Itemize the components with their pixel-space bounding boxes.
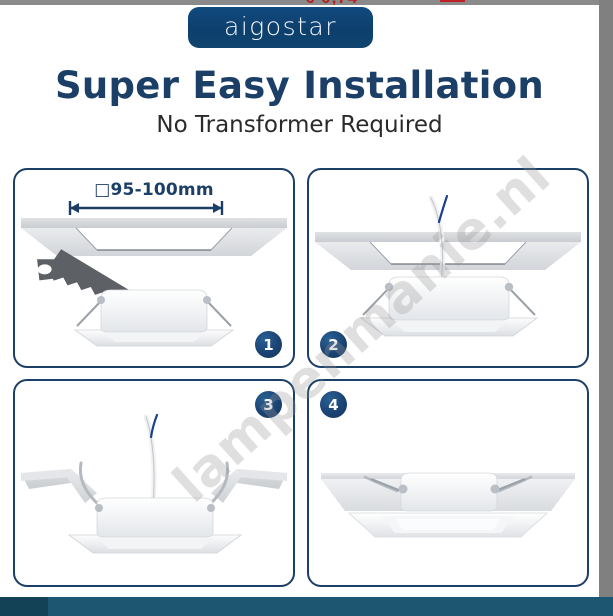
- downlight-icon: [361, 277, 537, 336]
- downlight-icon: [69, 498, 241, 553]
- step-panel-4: 4: [307, 379, 589, 587]
- dimension-arrow-icon: [70, 201, 222, 215]
- wire-icon: [146, 415, 157, 503]
- step-badge-2: 2: [320, 331, 347, 358]
- aigostar-logo: aigostar: [188, 7, 373, 48]
- downlight-icon: [75, 290, 233, 346]
- step-badge-4: 4: [320, 391, 347, 418]
- logo-wordmark: aigostar: [224, 14, 337, 41]
- page-title: Super Easy Installation: [0, 64, 599, 107]
- page-subtitle: No Transformer Required: [0, 112, 599, 138]
- step-panel-1: □95-100mm: [13, 168, 295, 368]
- product-infographic-page: € 0,74 incl. btw -50% aigostar Super Eas…: [0, 0, 613, 616]
- step-4-illustration: [309, 381, 587, 585]
- step-badge-1: 1: [255, 331, 282, 358]
- discount-badge: -50%: [440, 0, 465, 2]
- step-3-illustration: [15, 381, 293, 585]
- right-gutter: [599, 0, 613, 597]
- step-panel-3: 3: [13, 379, 295, 587]
- step-1-illustration: [15, 170, 293, 366]
- footer-bar-accent: [0, 597, 48, 616]
- price-note: incl. btw: [390, 0, 419, 2]
- step-2-illustration: [309, 170, 587, 366]
- ceiling-panel-icon: [315, 232, 581, 270]
- step-panel-2: 2: [307, 168, 589, 368]
- step-badge-3: 3: [255, 391, 282, 418]
- footer-bar: [0, 597, 613, 616]
